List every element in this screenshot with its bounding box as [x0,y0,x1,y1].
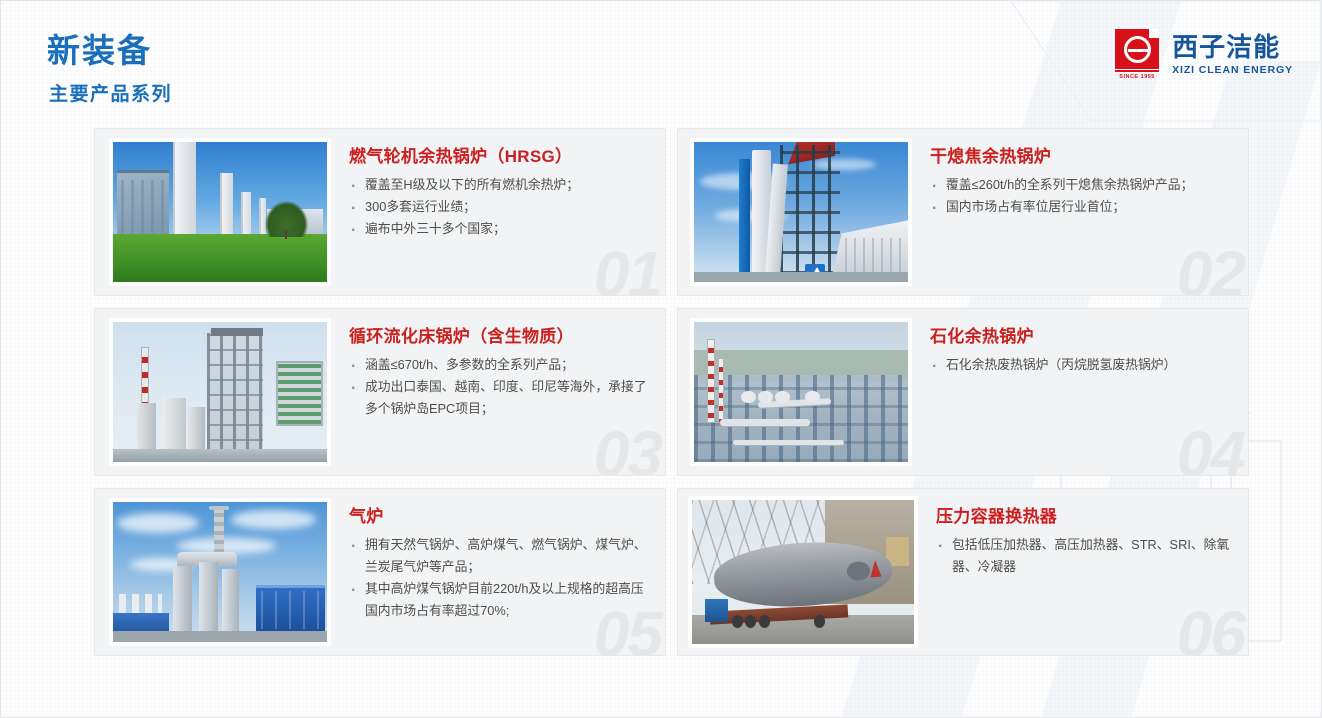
slide-root: 新装备 主要产品系列 SINCE 1955 西子洁能 XIZI CLEAN EN… [0,0,1322,718]
card-bullet-list: 涵盖≤670t/h、多参数的全系列产品； 成功出口泰国、越南、印度、印尼等海外，… [349,354,651,420]
list-item: 涵盖≤670t/h、多参数的全系列产品； [349,354,651,376]
product-image-03 [109,318,331,466]
product-card-03[interactable]: 循环流化床锅炉（含生物质） 涵盖≤670t/h、多参数的全系列产品； 成功出口泰… [94,308,666,476]
card-body: 气炉 拥有天然气锅炉、高炉煤气、燃气锅炉、煤气炉、兰炭尾气炉等产品； 其中高炉煤… [331,489,665,655]
product-card-01[interactable]: 燃气轮机余热锅炉（HRSG） 覆盖至H级及以下的所有燃机余热炉； 300多套运行… [94,128,666,296]
card-photo-wrapper [678,489,918,655]
card-bullet-list: 覆盖至H级及以下的所有燃机余热炉； 300多套运行业绩； 遍布中外三十多个国家； [349,174,651,240]
list-item: 其中高炉煤气锅炉目前220t/h及以上规格的超高压国内市场占有率超过70%; [349,578,651,622]
card-number-watermark: 03 [594,417,661,476]
card-bullet-list: 覆盖≤260t/h的全系列干熄焦余热锅炉产品； 国内市场占有率位居行业首位； [930,174,1234,218]
logo-name-cn: 西子洁能 [1172,34,1293,61]
list-item: 包括低压加热器、高压加热器、STR、SRI、除氧器、冷凝器 [936,534,1234,578]
card-body: 石化余热锅炉 石化余热废热锅炉（丙烷脱氢废热锅炉） 04 [912,309,1248,475]
product-image-06 [688,496,918,648]
product-card-04[interactable]: 石化余热锅炉 石化余热废热锅炉（丙烷脱氢废热锅炉） 04 [677,308,1249,476]
card-photo-wrapper [95,309,331,475]
card-body: 压力容器换热器 包括低压加热器、高压加热器、STR、SRI、除氧器、冷凝器 06 [918,489,1248,655]
card-number-watermark: 04 [1177,417,1244,476]
list-item: 成功出口泰国、越南、印度、印尼等海外，承接了多个锅炉岛EPC项目； [349,376,651,420]
card-bullet-list: 包括低压加热器、高压加热器、STR、SRI、除氧器、冷凝器 [936,534,1234,578]
card-number-watermark: 02 [1177,237,1244,296]
card-title: 气炉 [349,507,651,527]
list-item: 覆盖至H级及以下的所有燃机余热炉； [349,174,651,196]
card-bullet-list: 石化余热废热锅炉（丙烷脱氢废热锅炉） [930,354,1234,376]
page-subtitle: 主要产品系列 [49,85,172,104]
list-item: 覆盖≤260t/h的全系列干熄焦余热锅炉产品； [930,174,1234,196]
card-title: 石化余热锅炉 [930,327,1234,347]
product-image-02 [690,138,912,286]
product-card-06[interactable]: 压力容器换热器 包括低压加热器、高压加热器、STR、SRI、除氧器、冷凝器 06 [677,488,1249,656]
product-card-05[interactable]: 气炉 拥有天然气锅炉、高炉煤气、燃气锅炉、煤气炉、兰炭尾气炉等产品； 其中高炉煤… [94,488,666,656]
card-photo-wrapper [678,129,912,295]
card-photo-wrapper [678,309,912,475]
logo-emblem-icon: SINCE 1955 [1115,29,1163,81]
product-image-01 [109,138,331,286]
list-item: 拥有天然气锅炉、高炉煤气、燃气锅炉、煤气炉、兰炭尾气炉等产品； [349,534,651,578]
card-title: 循环流化床锅炉（含生物质） [349,327,651,347]
card-number-watermark: 06 [1177,597,1244,656]
card-body: 燃气轮机余热锅炉（HRSG） 覆盖至H级及以下的所有燃机余热炉； 300多套运行… [331,129,665,295]
card-title: 压力容器换热器 [936,507,1234,527]
card-body: 循环流化床锅炉（含生物质） 涵盖≤670t/h、多参数的全系列产品； 成功出口泰… [331,309,665,475]
product-image-04 [690,318,912,466]
list-item: 石化余热废热锅炉（丙烷脱氢废热锅炉） [930,354,1234,376]
card-bullet-list: 拥有天然气锅炉、高炉煤气、燃气锅炉、煤气炉、兰炭尾气炉等产品； 其中高炉煤气锅炉… [349,534,651,622]
card-number-watermark: 01 [594,237,661,296]
card-photo-wrapper [95,489,331,655]
page-title: 新装备 [47,34,152,67]
list-item: 300多套运行业绩； [349,196,651,218]
logo-since-text: SINCE 1955 [1115,74,1159,80]
list-item: 遍布中外三十多个国家； [349,218,651,240]
product-image-05 [109,498,331,646]
card-title: 燃气轮机余热锅炉（HRSG） [349,147,651,167]
logo-name-en: XIZI CLEAN ENERGY [1172,64,1293,76]
product-card-02[interactable]: 干熄焦余热锅炉 覆盖≤260t/h的全系列干熄焦余热锅炉产品； 国内市场占有率位… [677,128,1249,296]
card-body: 干熄焦余热锅炉 覆盖≤260t/h的全系列干熄焦余热锅炉产品； 国内市场占有率位… [912,129,1248,295]
company-logo: SINCE 1955 西子洁能 XIZI CLEAN ENERGY [1115,29,1293,81]
card-title: 干熄焦余热锅炉 [930,147,1234,167]
list-item: 国内市场占有率位居行业首位； [930,196,1234,218]
card-photo-wrapper [95,129,331,295]
